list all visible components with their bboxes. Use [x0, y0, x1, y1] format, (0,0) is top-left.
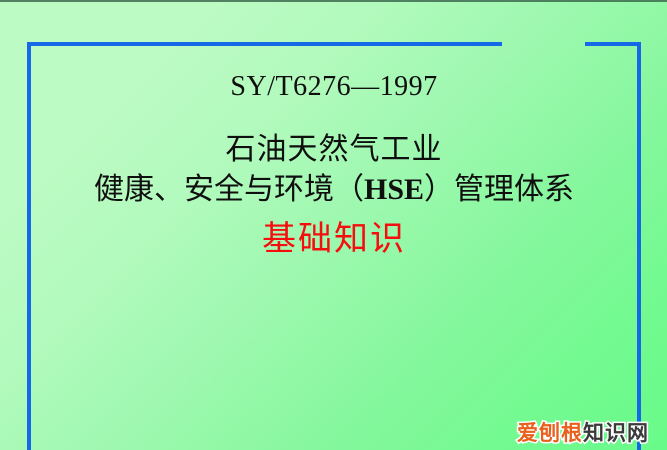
- top-edge-divider: [0, 0, 667, 2]
- title-line-hse-system: 健康、安全与环境（HSE）管理体系: [31, 173, 637, 208]
- watermark-highlight-text: 爱刨根: [517, 421, 583, 445]
- title-hse-prefix: 健康、安全与环境（: [94, 173, 364, 206]
- slide-canvas: SY/T6276—1997 石油天然气工业 健康、安全与环境（HSE）管理体系 …: [0, 0, 667, 450]
- slide-text-stack: SY/T6276—1997 石油天然气工业 健康、安全与环境（HSE）管理体系 …: [31, 46, 637, 259]
- title-line-industry: 石油天然气工业: [31, 133, 637, 168]
- title-hse-suffix: ）管理体系: [424, 173, 574, 206]
- subject-heading: 基础知识: [31, 220, 637, 259]
- title-hse-acronym: HSE: [364, 173, 424, 206]
- frame-border-right: [637, 42, 641, 450]
- watermark-secondary-text: 知识网: [583, 421, 649, 445]
- standard-number: SY/T6276—1997: [31, 72, 637, 103]
- site-watermark: 爱刨根知识网: [517, 423, 649, 444]
